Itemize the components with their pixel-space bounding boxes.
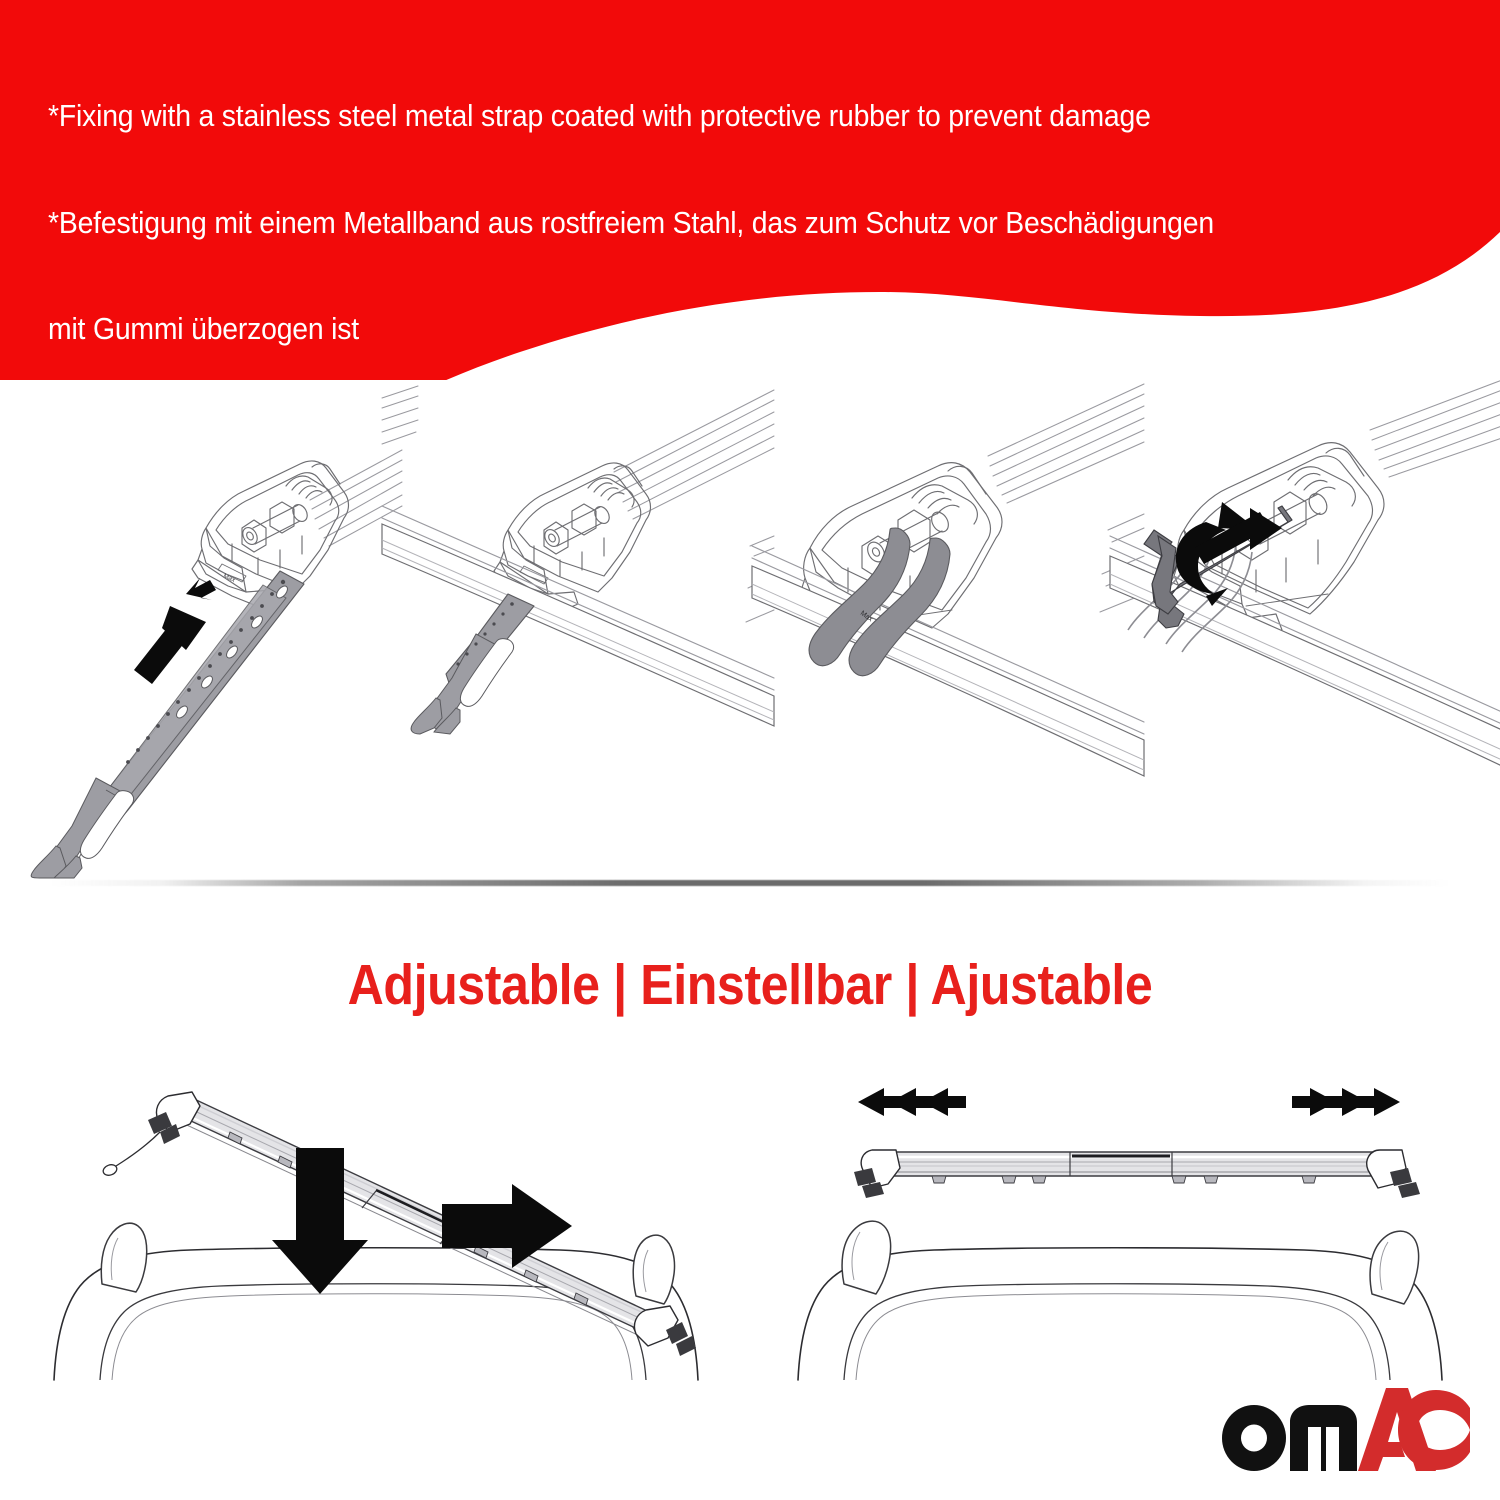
installation-steps-row: Max xyxy=(0,378,1500,878)
svg-text:Max: Max xyxy=(222,572,237,584)
omac-logo-mark xyxy=(1222,1386,1470,1472)
banner-line-3: mit Gummi überzogen ist xyxy=(48,312,1369,348)
installation-step-1: Max xyxy=(10,378,402,878)
logo-letter-m xyxy=(1290,1405,1357,1471)
banner-line-1: *Fixing with a stainless steel metal str… xyxy=(48,99,1369,135)
header-banner: *Fixing with a stainless steel metal str… xyxy=(0,0,1500,380)
crossbar-width-illustration xyxy=(780,1080,1480,1380)
page-root: *Fixing with a stainless steel metal str… xyxy=(0,0,1500,1500)
installation-step-4 xyxy=(1110,378,1500,878)
installation-step-2 xyxy=(382,378,774,878)
banner-line-2: *Befestigung mit einem Metallband aus ro… xyxy=(48,206,1369,242)
omac-logo xyxy=(1222,1386,1470,1472)
down-arrow-icon xyxy=(272,1148,368,1294)
logo-letter-c xyxy=(1398,1390,1470,1470)
adjust-diagram-left xyxy=(40,1080,760,1380)
adjustable-diagrams-row xyxy=(0,1080,1500,1380)
step-1-illustration: Max xyxy=(10,378,402,878)
metal-strap-icon xyxy=(411,594,534,734)
step-3-illustration: Max xyxy=(752,378,1144,878)
triple-right-arrow-icon xyxy=(1292,1088,1400,1116)
step-4-illustration xyxy=(1110,378,1500,878)
logo-letter-o xyxy=(1222,1405,1286,1471)
adjustable-headline: Adjustable | Einstellbar | Ajustable xyxy=(90,952,1410,1018)
triple-left-arrow-icon xyxy=(858,1088,966,1116)
adjust-diagram-right xyxy=(780,1080,1480,1380)
crossbar-install-illustration xyxy=(40,1080,760,1380)
section-divider xyxy=(50,880,1450,886)
step-2-illustration xyxy=(382,378,774,878)
installation-step-3: Max xyxy=(752,378,1144,878)
